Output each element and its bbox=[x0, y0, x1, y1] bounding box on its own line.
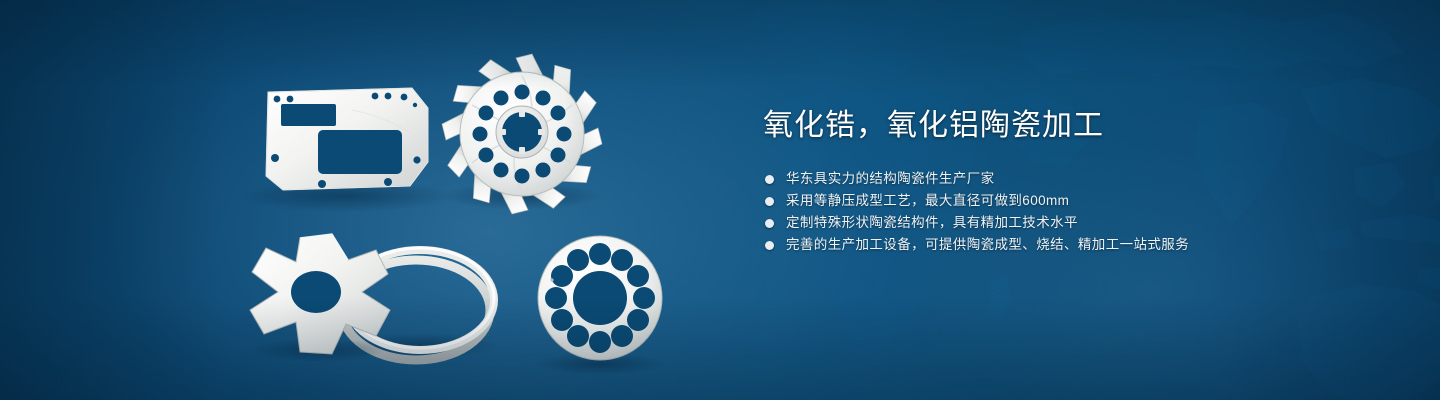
feature-list: 华东具实力的结构陶瓷件生产厂家 采用等静压成型工艺，最大直径可做到600mm 定… bbox=[765, 168, 1323, 256]
feature-text: 定制特殊形状陶瓷结构件，具有精加工技术水平 bbox=[786, 212, 1078, 234]
page-title: 氧化锆，氧化铝陶瓷加工 bbox=[763, 106, 1323, 146]
list-item: 定制特殊形状陶瓷结构件，具有精加工技术水平 bbox=[765, 212, 1323, 234]
banner-text-block: 氧化锆，氧化铝陶瓷加工 华东具实力的结构陶瓷件生产厂家 采用等静压成型工艺，最大… bbox=[763, 106, 1323, 256]
promo-banner: 氧化锆，氧化铝陶瓷加工 华东具实力的结构陶瓷件生产厂家 采用等静压成型工艺，最大… bbox=[0, 0, 1440, 400]
bullet-dot-icon bbox=[765, 219, 774, 228]
feature-text: 采用等静压成型工艺，最大直径可做到600mm bbox=[786, 190, 1069, 212]
list-item: 完善的生产加工设备，可提供陶瓷成型、烧结、精加工一站式服务 bbox=[765, 234, 1323, 256]
feature-text: 华东具实力的结构陶瓷件生产厂家 bbox=[786, 168, 995, 190]
feature-text: 完善的生产加工设备，可提供陶瓷成型、烧结、精加工一站式服务 bbox=[786, 234, 1189, 256]
list-item: 采用等静压成型工艺，最大直径可做到600mm bbox=[765, 190, 1323, 212]
bullet-dot-icon bbox=[765, 175, 774, 184]
bullet-dot-icon bbox=[765, 197, 774, 206]
list-item: 华东具实力的结构陶瓷件生产厂家 bbox=[765, 168, 1323, 190]
bullet-dot-icon bbox=[765, 241, 774, 250]
